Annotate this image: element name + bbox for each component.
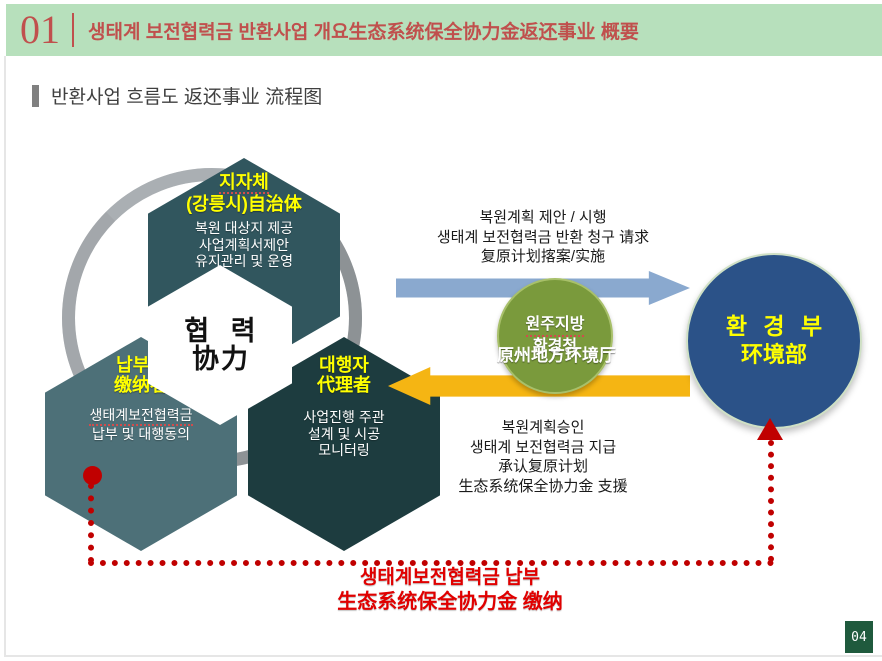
- dotted-path-right-segment: [768, 440, 774, 562]
- ministry-label-zh: 环境部: [741, 341, 807, 369]
- circle-ministry-environment[interactable]: 환 경 부 环境部: [686, 253, 862, 429]
- hexagon-body-line: 사업진행 주관: [303, 409, 384, 426]
- hexagon-body: 생태계보전협력금 납부 및 대행동의: [89, 407, 192, 442]
- hexagon-body: 사업진행 주관 설계 및 시공 모니터링: [303, 409, 384, 459]
- hexagon-body-line: 생태계보전협력금: [89, 407, 192, 426]
- circle-regional-office[interactable]: 원주지방 환경청: [497, 278, 613, 394]
- arrow-left-labels: 복원계획승인 생태계 보전협력금 지급 承认复原计划 生态系统保全协力金 支援: [380, 418, 706, 496]
- hexagon-title-mixed: 代理者: [317, 375, 371, 395]
- hexagon-body-line: 납부 및 대행동의: [89, 426, 192, 443]
- dotted-path-caption: 생태계보전협력금 납부 生态系统保全协力金 缴纳: [250, 566, 650, 615]
- arrow-left-label-line: 생태계 보전협력금 지급: [380, 438, 706, 458]
- dotted-path-arrowhead-icon: [757, 418, 783, 440]
- hexagon-title: 대행자 代理者: [317, 355, 371, 395]
- hexagon-body-line: 유지관리 및 운영: [195, 253, 293, 270]
- hexagon-body-line: 사업계획서제안: [195, 237, 293, 254]
- hexagon-title-ko: 지자체: [219, 172, 269, 194]
- arrow-left-label-line: 生态系统保全协力金 支援: [380, 477, 706, 497]
- arrow-left-label-line: 복원계획승인: [380, 418, 706, 438]
- hexagon-body: 복원 대상지 제공 사업계획서제안 유지관리 및 운영: [195, 220, 293, 270]
- dotted-path-caption-zh: 生态系统保全协力金 缴纳: [250, 590, 650, 615]
- hexagon-title-mixed: (강릉시)自治体: [186, 194, 302, 214]
- center-label-ko: 협 력: [177, 317, 262, 345]
- arrow-right-label-line: 생태계 보전협력금 반환 청구 请求: [380, 228, 706, 248]
- center-label-zh: 协力: [190, 345, 250, 373]
- arrow-right-labels: 복원계획 제안 / 시행 생태계 보전협력금 반환 청구 请求 复原计划揢案/实…: [380, 208, 706, 267]
- flow-diagram: 지자체 (강릉시)自治体 복원 대상지 제공 사업계획서제안 유지관리 및 운영…: [0, 0, 882, 661]
- hexagon-body-line: 설계 및 시공: [303, 426, 384, 443]
- dotted-path-start-dot: [83, 466, 102, 485]
- arrow-left-label-line: 承认复原计划: [380, 457, 706, 477]
- hexagon-body-line: 복원 대상지 제공: [195, 220, 293, 237]
- bottom-rule: [4, 655, 882, 657]
- regional-office-line1: 원주지방: [526, 315, 585, 337]
- arrow-right-label-line: 복원계획 제안 / 시행: [380, 208, 706, 228]
- dotted-path-left-segment: [88, 483, 94, 563]
- arrow-right-label-line: 复原计划揢案/实施: [380, 247, 706, 267]
- hexagon-body-line: 모니터링: [303, 442, 384, 459]
- slide-root: 01 생태계 보전협력금 반환사업 개요生态系统保全协力金返还事业 概要 반환사…: [0, 0, 882, 661]
- dotted-path-caption-ko: 생태계보전협력금 납부: [250, 566, 650, 590]
- ministry-label-ko: 환 경 부: [721, 313, 827, 341]
- regional-office-line3: 原州地方环境厅: [497, 341, 609, 366]
- page-number-badge: 04: [845, 621, 873, 653]
- hexagon-title-ko: 대행자: [319, 355, 369, 375]
